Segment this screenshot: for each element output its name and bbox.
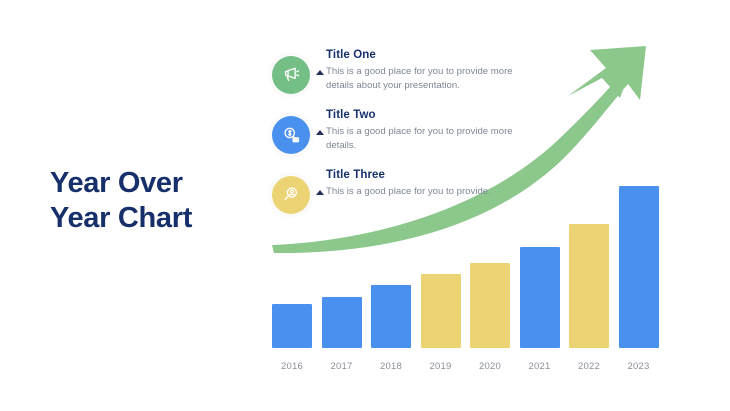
bar-2023[interactable] [619, 186, 659, 348]
x-axis-tick-2023: 2023 [619, 361, 659, 372]
slide-canvas: Year Over Year Chart Title One This is a… [0, 0, 730, 411]
bar-2019[interactable] [421, 274, 461, 348]
x-axis-tick-2019: 2019 [421, 361, 461, 372]
bar-2022[interactable] [569, 224, 609, 348]
x-axis-tick-2016: 2016 [272, 361, 312, 372]
page-title: Year Over Year Chart [50, 166, 260, 237]
x-axis-tick-2018: 2018 [371, 361, 411, 372]
bar-2021[interactable] [520, 247, 560, 348]
bullet-marker [316, 70, 324, 75]
megaphone-icon [272, 56, 310, 94]
x-axis-tick-2020: 2020 [470, 361, 510, 372]
bar-2020[interactable] [470, 263, 510, 348]
x-axis-tick-2021: 2021 [520, 361, 560, 372]
title-line-1: Year Over [50, 166, 260, 201]
bar-chart: 20162017201820192020202120222023 [265, 140, 665, 380]
x-axis-tick-2017: 2017 [322, 361, 362, 372]
x-axis-tick-2022: 2022 [569, 361, 609, 372]
bar-2017[interactable] [322, 297, 362, 348]
list-item-description: This is a good place for you to provide … [326, 65, 541, 93]
bar-2018[interactable] [371, 285, 411, 348]
list-item-title: Title Two [326, 109, 542, 121]
bar-2016[interactable] [272, 304, 312, 348]
list-item[interactable]: Title One This is a good place for you t… [272, 48, 542, 104]
bullet-marker [316, 130, 324, 135]
list-item-text: Title One This is a good place for you t… [326, 48, 542, 93]
list-item-title: Title One [326, 49, 542, 61]
title-line-2: Year Chart [50, 201, 260, 236]
